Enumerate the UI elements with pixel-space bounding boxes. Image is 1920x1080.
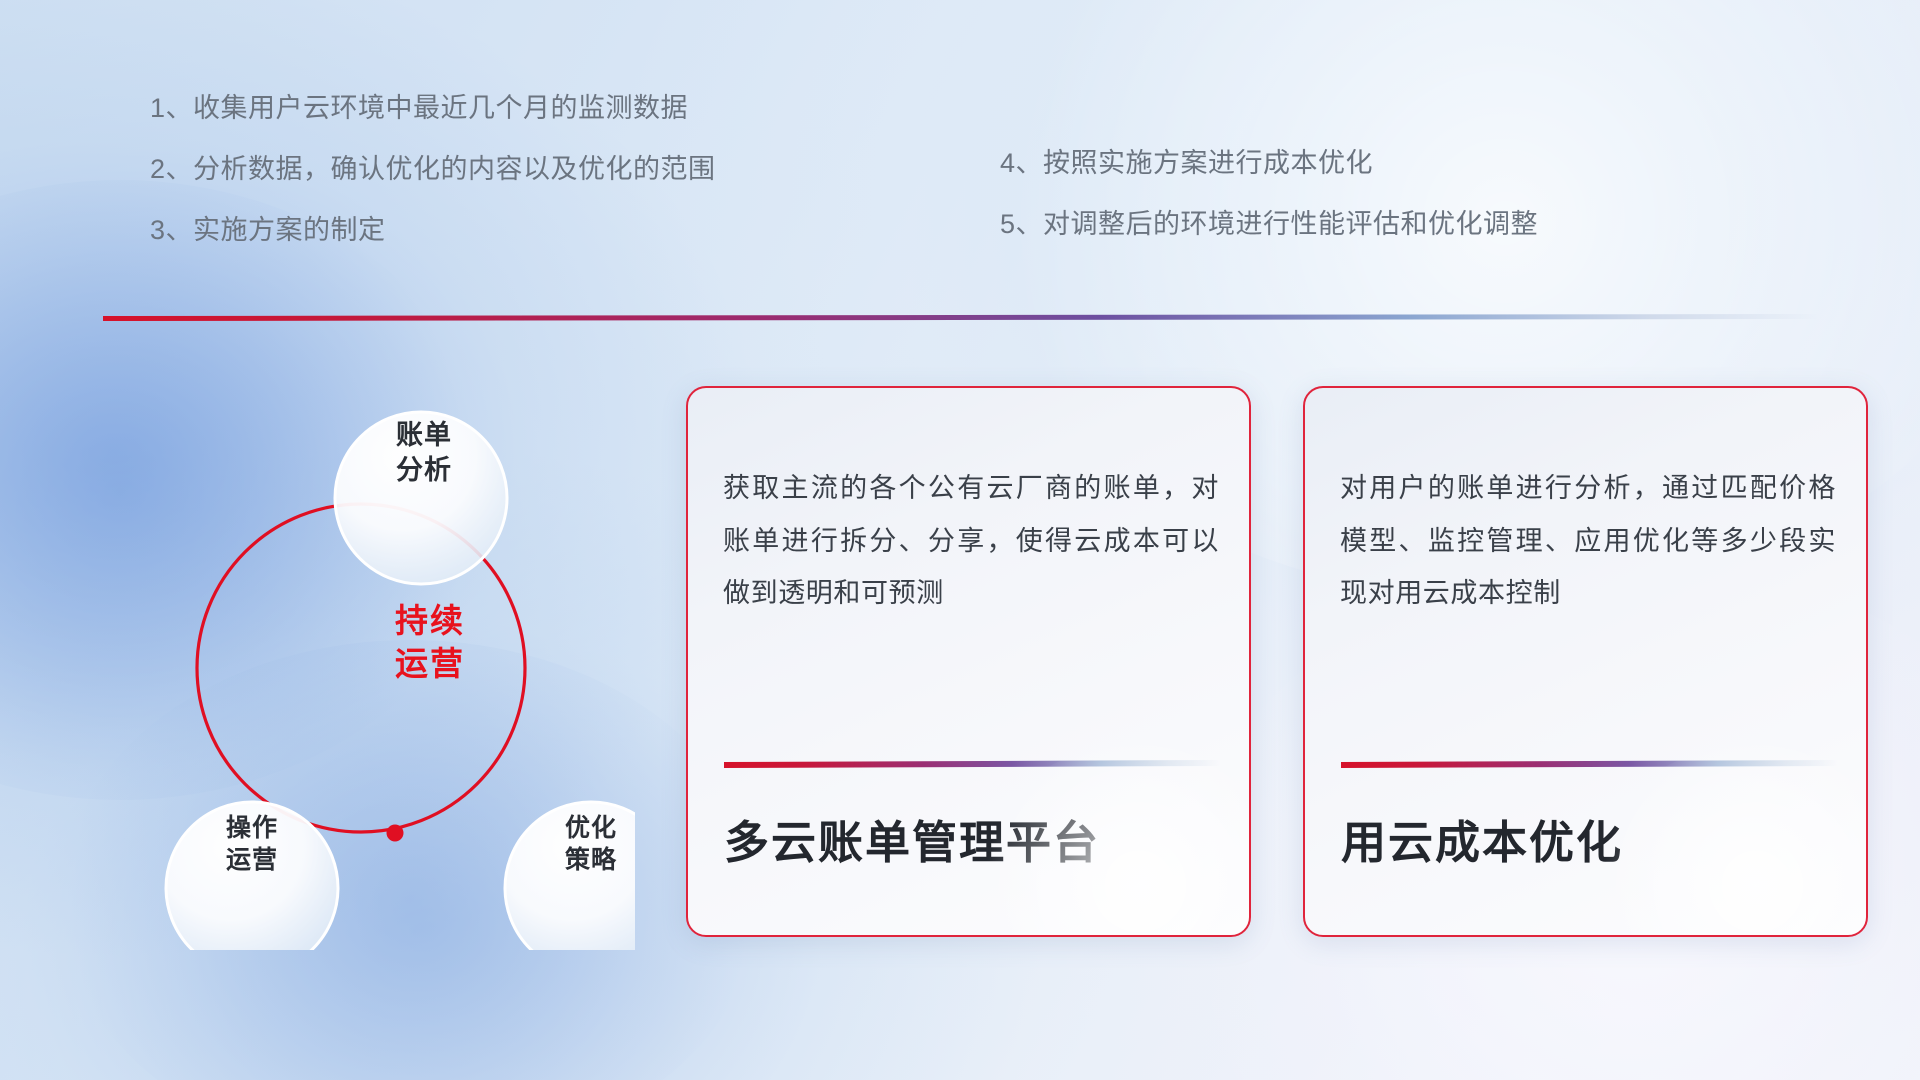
step-item-4: 4、按照实施方案进行成本优化: [1000, 150, 1760, 177]
node-top: [387, 825, 404, 842]
section-divider: [103, 314, 1819, 321]
card-cloud-cost-optimization[interactable]: 对用户的账单进行分析，通过匹配价格模型、监控管理、应用优化等多少段实现对用云成本…: [1303, 386, 1868, 937]
step-item-3: 3、实施方案的制定: [150, 217, 850, 244]
circle-label-optimization-strategy: 优化 策略: [506, 812, 676, 876]
step-item-5: 5、对调整后的环境进行性能评估和优化调整: [1000, 211, 1760, 238]
card-title: 多云账单管理平台: [724, 816, 1219, 870]
steps-list-left: 1、收集用户云环境中最近几个月的监测数据 2、分析数据，确认优化的内容以及优化的…: [150, 95, 850, 278]
step-item-1: 1、收集用户云环境中最近几个月的监测数据: [150, 95, 850, 122]
venn-center-label: 持续 运营: [340, 600, 520, 686]
venn-diagram: 账单 分析 操作 运营 优化 策略 持续 运营: [95, 350, 635, 950]
card-accent-rule: [1341, 760, 1837, 768]
card-multi-cloud-billing-platform[interactable]: 获取主流的各个公有云厂商的账单，对账单进行拆分、分享，使得云成本可以做到透明和可…: [686, 386, 1251, 937]
circle-label-operation-management: 操作 运营: [167, 812, 337, 876]
card-body-text: 对用户的账单进行分析，通过匹配价格模型、监控管理、应用优化等多少段实现对用云成本…: [1340, 462, 1836, 620]
card-accent-rule: [724, 760, 1220, 768]
card-body-text: 获取主流的各个公有云厂商的账单，对账单进行拆分、分享，使得云成本可以做到透明和可…: [723, 462, 1219, 620]
slide-canvas: 1、收集用户云环境中最近几个月的监测数据 2、分析数据，确认优化的内容以及优化的…: [0, 0, 1920, 1080]
card-title: 用云成本优化: [1341, 816, 1836, 870]
circle-label-billing-analysis: 账单 分析: [339, 418, 509, 487]
step-item-2: 2、分析数据，确认优化的内容以及优化的范围: [150, 156, 850, 183]
steps-list-right: 4、按照实施方案进行成本优化 5、对调整后的环境进行性能评估和优化调整: [1000, 150, 1760, 272]
